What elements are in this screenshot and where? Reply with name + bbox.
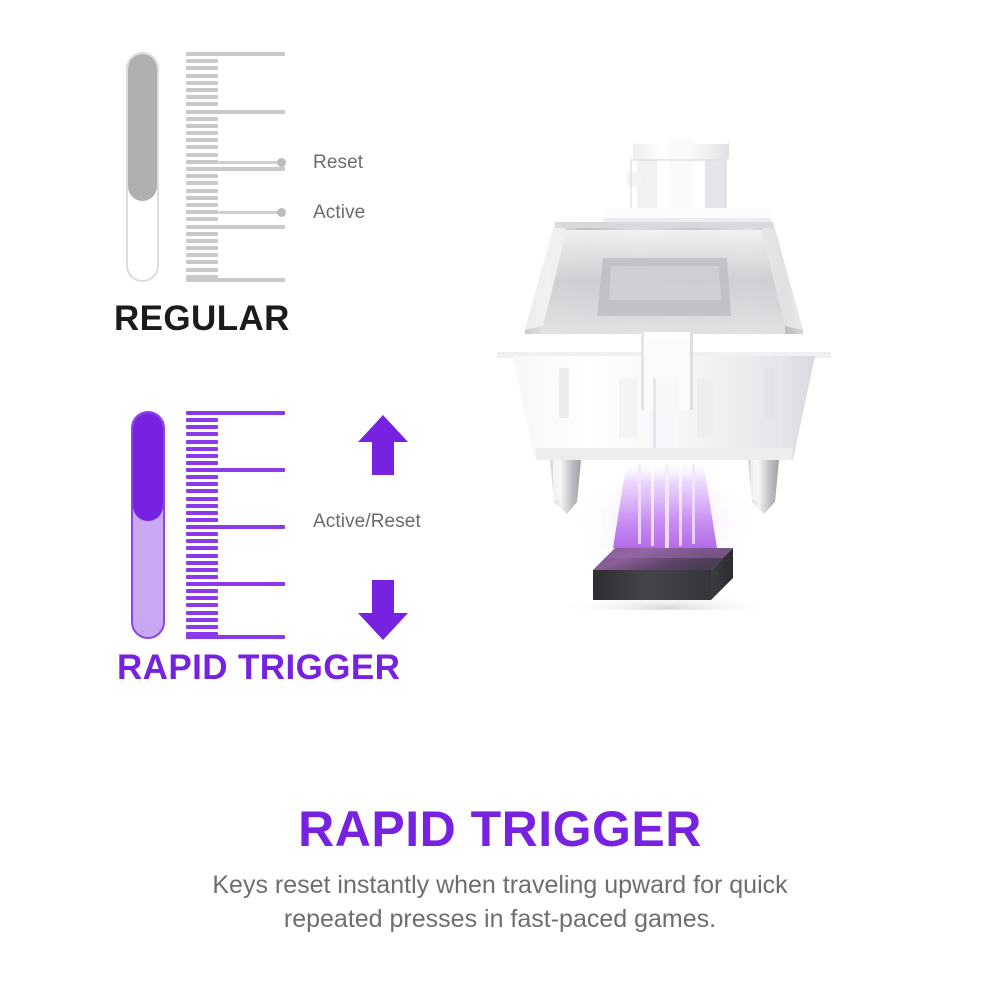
rapid-ruler-short-tick: [186, 497, 218, 501]
keyboard-switch-illustration: [455, 130, 925, 610]
switch-stem: [627, 138, 729, 210]
footer-subtitle-line-1: Keys reset instantly when traveling upwa…: [120, 868, 880, 902]
rapid-slider-fill: [133, 413, 163, 521]
rapid-ruler-short-tick: [186, 425, 218, 429]
rapid-ruler-short-tick: [186, 625, 218, 629]
rapid-ruler-short-tick: [186, 432, 218, 436]
rapid-slider-track[interactable]: [131, 411, 165, 639]
rapid-ruler-short-tick: [186, 447, 218, 451]
arrow-down-icon: [355, 578, 411, 642]
footer-title: RAPID TRIGGER: [0, 800, 1000, 858]
rapid-ruler-short-tick: [186, 482, 218, 486]
rapid-ruler-short-tick: [186, 418, 218, 422]
footer-subtitle: Keys reset instantly when traveling upwa…: [120, 868, 880, 936]
rapid-caption: RAPID TRIGGER: [117, 648, 400, 688]
rapid-ruler-short-tick: [186, 511, 218, 515]
rapid-ruler-long-tick: [186, 635, 285, 639]
footer-subtitle-line-2: repeated presses in fast-paced games.: [120, 902, 880, 936]
rapid-ruler-short-tick: [186, 461, 218, 465]
rapid-ruler-short-tick: [186, 440, 218, 444]
rapid-ruler-short-tick: [186, 589, 218, 593]
rapid-ruler-long-tick: [186, 411, 285, 415]
rapid-label-active-reset: Active/Reset: [313, 511, 421, 533]
rapid-ruler-long-tick: [186, 468, 285, 472]
rapid-ruler-short-tick: [186, 518, 218, 522]
rapid-ruler-short-tick: [186, 611, 218, 615]
rapid-ruler-short-tick: [186, 454, 218, 458]
rapid-ruler-long-tick: [186, 582, 285, 586]
rapid-ruler-short-tick: [186, 575, 218, 579]
rapid-ruler-short-tick: [186, 618, 218, 622]
rapid-ruler-short-tick: [186, 539, 218, 543]
rapid-ruler-short-tick: [186, 546, 218, 550]
rapid-ruler-short-tick: [186, 596, 218, 600]
poster-canvas: Reset Active REGULAR Active/Reset: [0, 0, 1000, 1000]
rapid-ruler-short-tick: [186, 532, 218, 536]
rapid-ruler-short-tick: [186, 504, 218, 508]
rapid-ruler-short-tick: [186, 568, 218, 572]
rapid-ruler-short-tick: [186, 554, 218, 558]
rapid-ruler-short-tick: [186, 561, 218, 565]
rapid-ruler: [186, 411, 296, 639]
rapid-diagram: Active/Reset: [0, 0, 470, 700]
rapid-ruler-long-tick: [186, 525, 285, 529]
arrow-up-icon: [355, 413, 411, 477]
rapid-ruler-short-tick: [186, 603, 218, 607]
rapid-ruler-short-tick: [186, 489, 218, 493]
rapid-ruler-short-tick: [186, 475, 218, 479]
